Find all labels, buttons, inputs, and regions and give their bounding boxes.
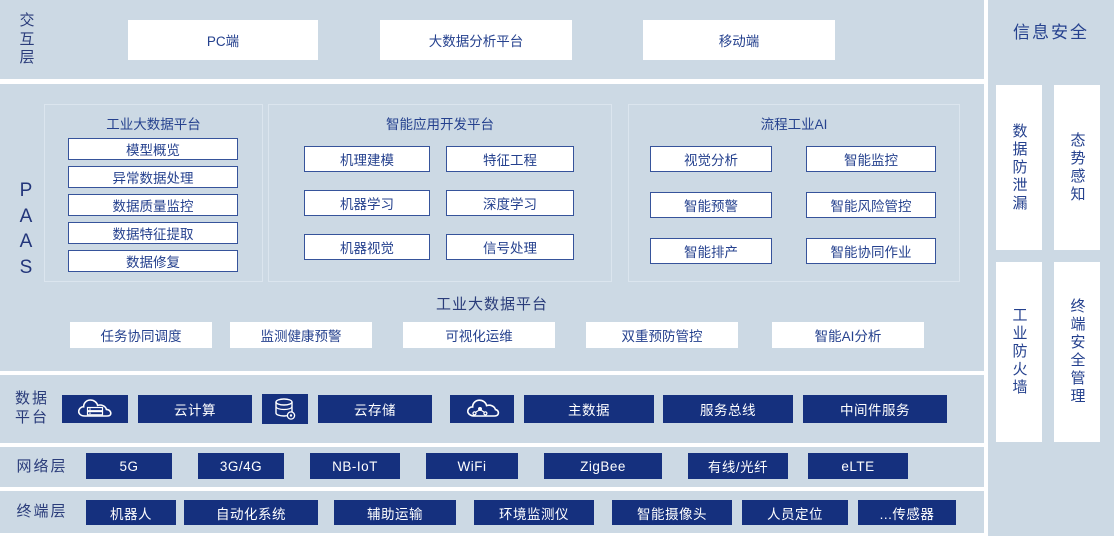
terminal-item-smart-camera[interactable]: 智能摄像头 bbox=[612, 500, 732, 525]
network-item-wifi-label: WiFi bbox=[458, 459, 487, 474]
network-item-zigbee-label: ZigBee bbox=[580, 459, 626, 474]
security-item-data-leak[interactable]: 数据防泄漏 bbox=[996, 85, 1042, 250]
paas-bottom-item-ai-analysis-label: 智能AI分析 bbox=[815, 325, 882, 345]
data-platform-item-master-data[interactable]: 主数据 bbox=[524, 395, 654, 423]
data-platform-item-middleware[interactable]: 中间件服务 bbox=[803, 395, 947, 423]
paas-label-c1: P bbox=[20, 178, 33, 204]
cloud-network-icon-chip[interactable] bbox=[450, 395, 514, 423]
network-item-wired-fiber[interactable]: 有线/光纤 bbox=[688, 453, 788, 479]
network-item-elte[interactable]: eLTE bbox=[808, 453, 908, 479]
security-item-situational-awareness[interactable]: 态势感知 bbox=[1054, 85, 1100, 250]
paas-bottom-item-ai-analysis[interactable]: 智能AI分析 bbox=[772, 322, 924, 348]
network-item-5g-label: 5G bbox=[119, 459, 138, 474]
paas-item-feature-extract[interactable]: 数据特征提取 bbox=[68, 222, 238, 244]
security-item-data-leak-label: 数据防泄漏 bbox=[1012, 123, 1027, 213]
data-platform-item-middleware-label: 中间件服务 bbox=[840, 399, 910, 419]
network-item-5g[interactable]: 5G bbox=[86, 453, 172, 479]
paas-bottom-item-health-warning[interactable]: 监测健康预警 bbox=[230, 322, 372, 348]
data-platform-item-cloud-storage[interactable]: 云存储 bbox=[318, 395, 432, 423]
security-item-industrial-firewall-label: 工业防火墙 bbox=[1012, 307, 1027, 397]
architecture-diagram: 交 互 层 PC端 大数据分析平台 移动端 P A A S 工业大数据平台 模型… bbox=[0, 0, 1114, 536]
paas-item-machine-vision-label: 机器视觉 bbox=[340, 237, 394, 257]
cloud-server-icon-chip[interactable] bbox=[62, 395, 128, 423]
terminal-item-robot-label: 机器人 bbox=[110, 503, 152, 523]
paas-bottom-item-task-scheduling[interactable]: 任务协同调度 bbox=[70, 322, 212, 348]
terminal-item-sensors-label: ...传感器 bbox=[880, 503, 935, 523]
terminal-item-automation[interactable]: 自动化系统 bbox=[184, 500, 318, 525]
paas-item-feature-engineering-label: 特征工程 bbox=[483, 149, 537, 169]
security-item-situational-awareness-label: 态势感知 bbox=[1070, 132, 1085, 204]
terminal-layer-label-text: 终端层 bbox=[16, 503, 67, 522]
network-layer-label-text: 网络层 bbox=[16, 458, 67, 477]
data-platform-item-service-bus[interactable]: 服务总线 bbox=[663, 395, 793, 423]
terminal-item-personnel-locating-label: 人员定位 bbox=[767, 503, 823, 523]
network-item-nbiot[interactable]: NB-IoT bbox=[310, 453, 400, 479]
paas-item-feature-engineering[interactable]: 特征工程 bbox=[446, 146, 574, 172]
cloud-server-icon bbox=[75, 397, 115, 421]
paas-bottom-item-visual-ops-label: 可视化运维 bbox=[445, 325, 513, 345]
interaction-layer-label-c1: 交 bbox=[19, 12, 36, 31]
interaction-item-mobile[interactable]: 移动端 bbox=[643, 20, 835, 60]
paas-item-machine-learning-label: 机器学习 bbox=[340, 193, 394, 213]
paas-item-smart-scheduling[interactable]: 智能排产 bbox=[650, 238, 772, 264]
data-platform-item-cloud-storage-label: 云存储 bbox=[354, 399, 396, 419]
interaction-layer-label: 交 互 层 bbox=[6, 8, 50, 72]
paas-label-c2: A bbox=[20, 204, 33, 230]
network-item-3g4g[interactable]: 3G/4G bbox=[198, 453, 284, 479]
paas-item-collaborative-work-label: 智能协同作业 bbox=[831, 241, 912, 261]
paas-item-deep-learning-label: 深度学习 bbox=[483, 193, 537, 213]
network-item-wired-fiber-label: 有线/光纤 bbox=[708, 456, 768, 476]
interaction-layer-label-c2: 互 bbox=[19, 31, 36, 50]
paas-label-c4: S bbox=[20, 255, 33, 281]
interaction-layer-label-c3: 层 bbox=[19, 49, 36, 68]
interaction-item-bigdata-label: 大数据分析平台 bbox=[429, 30, 524, 50]
paas-bottom-item-task-scheduling-label: 任务协同调度 bbox=[101, 325, 182, 345]
security-item-industrial-firewall[interactable]: 工业防火墙 bbox=[996, 262, 1042, 442]
terminal-item-env-monitor-label: 环境监测仪 bbox=[499, 503, 569, 523]
paas-item-signal-processing-label: 信号处理 bbox=[483, 237, 537, 257]
network-item-3g4g-label: 3G/4G bbox=[220, 459, 262, 474]
paas-group-appdev-title: 智能应用开发平台 bbox=[269, 113, 611, 133]
terminal-item-transport-label: 辅助运输 bbox=[367, 503, 423, 523]
paas-item-visual-analysis-label: 视觉分析 bbox=[684, 149, 738, 169]
security-item-endpoint-security-label: 终端安全管理 bbox=[1070, 298, 1085, 406]
data-platform-label: 数据 平台 bbox=[4, 386, 60, 432]
terminal-item-automation-label: 自动化系统 bbox=[216, 503, 286, 523]
interaction-item-mobile-label: 移动端 bbox=[719, 30, 760, 50]
data-platform-item-cloud-computing[interactable]: 云计算 bbox=[138, 395, 252, 423]
network-item-zigbee[interactable]: ZigBee bbox=[544, 453, 662, 479]
paas-item-abnormal-data[interactable]: 异常数据处理 bbox=[68, 166, 238, 188]
paas-item-collaborative-work[interactable]: 智能协同作业 bbox=[806, 238, 936, 264]
terminal-item-sensors[interactable]: ...传感器 bbox=[858, 500, 956, 525]
paas-item-data-repair-label: 数据修复 bbox=[126, 251, 180, 271]
network-item-elte-label: eLTE bbox=[841, 459, 874, 474]
paas-bottom-item-health-warning-label: 监测健康预警 bbox=[261, 325, 342, 345]
paas-bottom-title-label: 工业大数据平台 bbox=[436, 296, 548, 315]
paas-layer-label: P A A S bbox=[6, 178, 46, 281]
network-item-wifi[interactable]: WiFi bbox=[426, 453, 518, 479]
paas-item-smart-warning[interactable]: 智能预警 bbox=[650, 192, 772, 218]
terminal-item-robot[interactable]: 机器人 bbox=[86, 500, 176, 525]
paas-item-signal-processing[interactable]: 信号处理 bbox=[446, 234, 574, 260]
paas-item-machine-learning[interactable]: 机器学习 bbox=[304, 190, 430, 216]
interaction-item-bigdata[interactable]: 大数据分析平台 bbox=[380, 20, 572, 60]
paas-item-data-quality[interactable]: 数据质量监控 bbox=[68, 194, 238, 216]
cloud-network-icon bbox=[463, 397, 501, 421]
paas-item-smart-monitoring-label: 智能监控 bbox=[844, 149, 898, 169]
paas-group-bigdata-title: 工业大数据平台 bbox=[45, 113, 262, 133]
terminal-item-transport[interactable]: 辅助运输 bbox=[334, 500, 456, 525]
database-gear-icon bbox=[272, 396, 298, 422]
paas-bottom-item-dual-prevention-label: 双重预防管控 bbox=[622, 325, 703, 345]
data-platform-item-cloud-computing-label: 云计算 bbox=[174, 399, 216, 419]
paas-item-risk-control[interactable]: 智能风险管控 bbox=[806, 192, 936, 218]
data-platform-item-service-bus-label: 服务总线 bbox=[700, 399, 756, 419]
paas-item-smart-warning-label: 智能预警 bbox=[684, 195, 738, 215]
data-platform-item-master-data-label: 主数据 bbox=[568, 399, 610, 419]
terminal-item-smart-camera-label: 智能摄像头 bbox=[637, 503, 707, 523]
paas-bottom-title: 工业大数据平台 bbox=[0, 296, 984, 314]
database-gear-icon-chip[interactable] bbox=[262, 394, 308, 424]
paas-item-model-overview-label: 模型概览 bbox=[126, 139, 180, 159]
network-item-nbiot-label: NB-IoT bbox=[332, 459, 378, 474]
paas-item-visual-analysis[interactable]: 视觉分析 bbox=[650, 146, 772, 172]
paas-bottom-item-dual-prevention[interactable]: 双重预防管控 bbox=[586, 322, 738, 348]
data-platform-label-line1: 数据 bbox=[15, 390, 49, 409]
security-column-title: 信息安全 bbox=[988, 18, 1114, 43]
paas-item-deep-learning[interactable]: 深度学习 bbox=[446, 190, 574, 216]
security-item-endpoint-security[interactable]: 终端安全管理 bbox=[1054, 262, 1100, 442]
interaction-item-pc-label: PC端 bbox=[207, 30, 239, 50]
paas-item-data-quality-label: 数据质量监控 bbox=[113, 195, 194, 215]
paas-item-abnormal-data-label: 异常数据处理 bbox=[113, 167, 194, 187]
paas-item-data-repair[interactable]: 数据修复 bbox=[68, 250, 238, 272]
terminal-layer-label: 终端层 bbox=[4, 501, 80, 523]
paas-item-smart-scheduling-label: 智能排产 bbox=[684, 241, 738, 261]
paas-bottom-item-visual-ops[interactable]: 可视化运维 bbox=[403, 322, 555, 348]
network-layer-label: 网络层 bbox=[4, 456, 80, 478]
paas-item-risk-control-label: 智能风险管控 bbox=[831, 195, 912, 215]
terminal-item-personnel-locating[interactable]: 人员定位 bbox=[742, 500, 848, 525]
paas-item-smart-monitoring[interactable]: 智能监控 bbox=[806, 146, 936, 172]
paas-item-feature-extract-label: 数据特征提取 bbox=[113, 223, 194, 243]
paas-item-mechanism-modeling[interactable]: 机理建模 bbox=[304, 146, 430, 172]
paas-group-process-ai-title: 流程工业AI bbox=[629, 113, 959, 133]
paas-item-machine-vision[interactable]: 机器视觉 bbox=[304, 234, 430, 260]
terminal-item-env-monitor[interactable]: 环境监测仪 bbox=[474, 500, 594, 525]
interaction-item-pc[interactable]: PC端 bbox=[128, 20, 318, 60]
paas-item-model-overview[interactable]: 模型概览 bbox=[68, 138, 238, 160]
data-platform-label-line2: 平台 bbox=[15, 409, 49, 428]
paas-item-mechanism-modeling-label: 机理建模 bbox=[340, 149, 394, 169]
paas-label-c3: A bbox=[20, 229, 33, 255]
